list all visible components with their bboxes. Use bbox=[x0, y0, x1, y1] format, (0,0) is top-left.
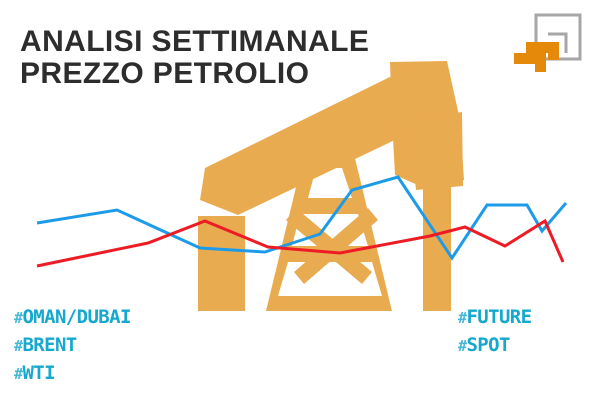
nested-brackets-logo bbox=[510, 8, 586, 84]
blue-trend-line bbox=[37, 177, 566, 258]
hashtag-wti[interactable]: #WTI bbox=[14, 362, 131, 384]
hashtag-label: SPOT bbox=[466, 334, 509, 356]
hashtag-label: OMAN/DUBAI bbox=[22, 306, 130, 328]
hashtag-label: BRENT bbox=[22, 334, 76, 356]
page-title: ANALISI SETTIMANALE PREZZO PETROLIO bbox=[20, 26, 369, 90]
hashtag-group-left: #OMAN/DUBAI #BRENT #WTI bbox=[14, 306, 131, 390]
hashtag-brent[interactable]: #BRENT bbox=[14, 334, 131, 356]
hashtag-spot[interactable]: #SPOT bbox=[458, 334, 531, 356]
title-line-1: ANALISI SETTIMANALE bbox=[20, 26, 369, 58]
hashtag-oman-dubai[interactable]: #OMAN/DUBAI bbox=[14, 306, 131, 328]
hashtag-label: FUTURE bbox=[466, 306, 531, 328]
title-line-2: PREZZO PETROLIO bbox=[20, 58, 369, 90]
logo-orange-corner-bracket-small bbox=[514, 53, 546, 72]
infographic-canvas: ANALISI SETTIMANALE PREZZO PETROLIO #OMA… bbox=[0, 0, 600, 400]
hashtag-group-right: #FUTURE #SPOT bbox=[458, 306, 531, 362]
hashtag-future[interactable]: #FUTURE bbox=[458, 306, 531, 328]
hashtag-label: WTI bbox=[22, 362, 55, 384]
red-trend-line bbox=[37, 221, 563, 266]
